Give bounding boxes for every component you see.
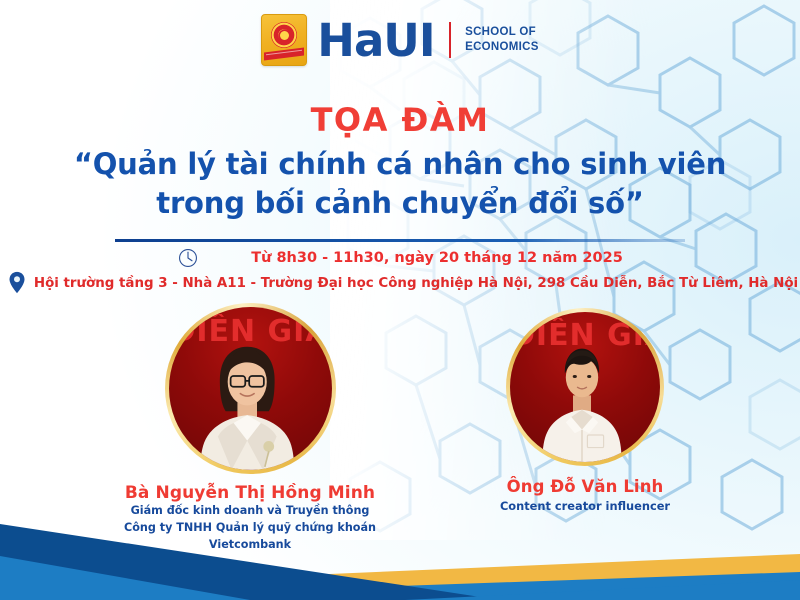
school-line-2: ECONOMICS	[465, 40, 539, 55]
school-line-1: SCHOOL OF	[465, 25, 539, 40]
event-kicker: TỌA ĐÀM	[0, 101, 800, 139]
speaker-2-portrait	[510, 336, 654, 462]
speaker-card-2: DIỄN GIẢ	[450, 308, 720, 515]
speaker-1-photo: DIỄN GIẢ	[165, 303, 336, 474]
location-pin-icon	[8, 271, 26, 294]
logo-divider	[449, 22, 452, 58]
clock-icon	[177, 247, 199, 269]
page-title: “Quản lý tài chính cá nhân cho sinh viên…	[0, 145, 800, 224]
speaker-1-portrait	[169, 333, 325, 470]
speaker-2-photo: DIỄN GIẢ	[506, 308, 664, 466]
speaker-2-name: Ông Đỗ Văn Linh	[450, 477, 720, 496]
bottom-decorative-bands	[0, 510, 800, 600]
page-title-line-1: “Quản lý tài chính cá nhân cho sinh viên	[74, 147, 726, 181]
school-name: SCHOOL OF ECONOMICS	[465, 25, 539, 54]
ribbon-shape	[264, 48, 304, 61]
brand-header: HaUI SCHOOL OF ECONOMICS	[0, 14, 800, 66]
event-time-text: Từ 8h30 - 11h30, ngày 20 tháng 12 năm 20…	[251, 250, 623, 266]
speaker-1-name: Bà Nguyễn Thị Hồng Minh	[110, 483, 390, 503]
speaker-2-photo-inner: DIỄN GIẢ	[510, 312, 660, 462]
gear-emblem-icon	[271, 22, 297, 48]
event-time-row: Từ 8h30 - 11h30, ngày 20 tháng 12 năm 20…	[0, 247, 800, 269]
haui-seal-logo-icon	[261, 14, 307, 66]
poster-canvas: HaUI SCHOOL OF ECONOMICS TỌA ĐÀM “Quản l…	[0, 0, 800, 600]
event-location-text: Hội trường tầng 3 - Nhà A11 - Trường Đại…	[34, 276, 798, 291]
event-location-row: Hội trường tầng 3 - Nhà A11 - Trường Đại…	[0, 272, 800, 294]
brand-wordmark: HaUI	[317, 18, 434, 63]
speaker-1-photo-inner: DIỄN GIẢ	[169, 307, 332, 470]
title-divider-rule	[115, 239, 685, 242]
page-title-line-2: trong bối cảnh chuyển đổi số”	[0, 184, 800, 223]
